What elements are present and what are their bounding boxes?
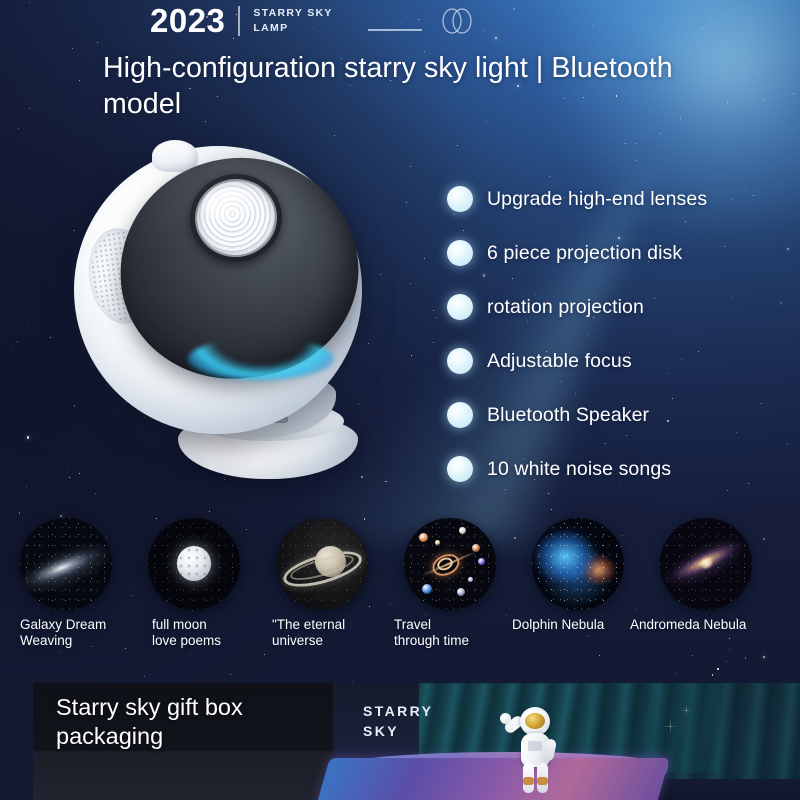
gift-box-brand: STARRY SKY	[363, 701, 433, 742]
feature-item-5: 10 white noise songs	[447, 442, 707, 496]
projection-disc-item-3[interactable]: Travel through time	[392, 518, 508, 649]
astronaut-figure-icon	[498, 703, 570, 795]
header-brand: STARRY SKY LAMP	[253, 6, 332, 34]
moon-disc-icon	[148, 518, 240, 610]
feature-item-2: rotation projection	[447, 280, 707, 334]
header-underline	[368, 29, 422, 31]
header-year: 2023	[150, 4, 225, 37]
bullet-dot-icon	[447, 348, 473, 374]
astronaut-visor	[525, 713, 545, 729]
gift-box-body	[316, 758, 670, 800]
feature-label: Adjustable focus	[487, 350, 632, 373]
bullet-dot-icon	[447, 294, 473, 320]
feature-label: 10 white noise songs	[487, 458, 671, 481]
header-bar: 2023 STARRY SKY LAMP	[150, 4, 477, 37]
gift-box-title: Starry sky gift box packaging	[56, 693, 326, 750]
header-divider	[238, 6, 240, 36]
feature-item-3: Adjustable focus	[447, 334, 707, 388]
double-circle-icon	[437, 7, 477, 35]
projection-disc-thumbnail	[276, 518, 368, 610]
projection-disc-item-5[interactable]: Andromeda Nebula	[648, 518, 764, 633]
projection-disc-caption: Galaxy Dream Weaving	[20, 617, 124, 649]
sparkle-star-icon	[663, 719, 678, 734]
galaxy-disc-icon	[20, 518, 112, 610]
gift-box-brand-line2: SKY	[363, 721, 433, 741]
feature-list: Upgrade high-end lenses6 piece projectio…	[447, 172, 707, 496]
bullet-dot-icon	[447, 186, 473, 212]
andromeda-nebula-disc-icon	[660, 518, 752, 610]
feature-label: 6 piece projection disk	[487, 242, 682, 265]
projection-disc-thumbnail	[660, 518, 752, 610]
header-brand-line2: LAMP	[253, 21, 332, 35]
projection-disc-thumbnail	[404, 518, 496, 610]
bullet-dot-icon	[447, 402, 473, 428]
bullet-dot-icon	[447, 240, 473, 266]
feature-item-0: Upgrade high-end lenses	[447, 172, 707, 226]
projection-disc-list: Galaxy Dream Weavingfull moon love poems…	[0, 518, 800, 678]
feature-label: Upgrade high-end lenses	[487, 188, 707, 211]
projection-disc-item-0[interactable]: Galaxy Dream Weaving	[8, 518, 124, 649]
projection-disc-caption: Dolphin Nebula	[512, 617, 636, 633]
sparkle-star-icon	[681, 705, 692, 716]
lens-rings	[193, 177, 279, 260]
feature-item-4: Bluetooth Speaker	[447, 388, 707, 442]
projection-disc-item-4[interactable]: Dolphin Nebula	[520, 518, 636, 633]
lens-highlight	[203, 185, 255, 225]
dolphin-nebula-disc-icon	[532, 518, 624, 610]
projection-disc-item-2[interactable]: "The eternal universe	[264, 518, 380, 649]
projection-disc-thumbnail	[20, 518, 112, 610]
planets-disc-icon	[404, 518, 496, 610]
astronaut-knee-right	[537, 777, 548, 785]
projection-disc-thumbnail	[532, 518, 624, 610]
astronaut-hand	[500, 713, 511, 724]
projection-disc-caption: full moon love poems	[152, 617, 252, 649]
projection-disc-caption: Andromeda Nebula	[630, 617, 764, 633]
projection-disc-caption: Travel through time	[394, 617, 508, 649]
astronaut-chest-panel	[528, 741, 542, 751]
led-glow-icon	[188, 338, 334, 380]
feature-label: rotation projection	[487, 296, 644, 319]
projection-disc-caption: "The eternal universe	[272, 617, 380, 649]
bullet-dot-icon	[447, 456, 473, 482]
gift-box-panel: Starry sky gift box packaging STARRY SKY	[33, 683, 800, 800]
gift-box-brand-line1: STARRY	[363, 701, 433, 721]
projection-disc-thumbnail	[148, 518, 240, 610]
astronaut-knee-left	[523, 777, 534, 785]
projection-disc-item-1[interactable]: full moon love poems	[136, 518, 252, 649]
header-brand-line1: STARRY SKY	[253, 6, 332, 20]
saturn-disc-icon	[276, 518, 368, 610]
feature-label: Bluetooth Speaker	[487, 404, 649, 427]
product-marketing-page: 2023 STARRY SKY LAMP High-configuration …	[0, 0, 800, 800]
feature-item-1: 6 piece projection disk	[447, 226, 707, 280]
page-title: High-configuration starry sky light | Bl…	[103, 50, 703, 122]
product-image	[62, 140, 392, 485]
